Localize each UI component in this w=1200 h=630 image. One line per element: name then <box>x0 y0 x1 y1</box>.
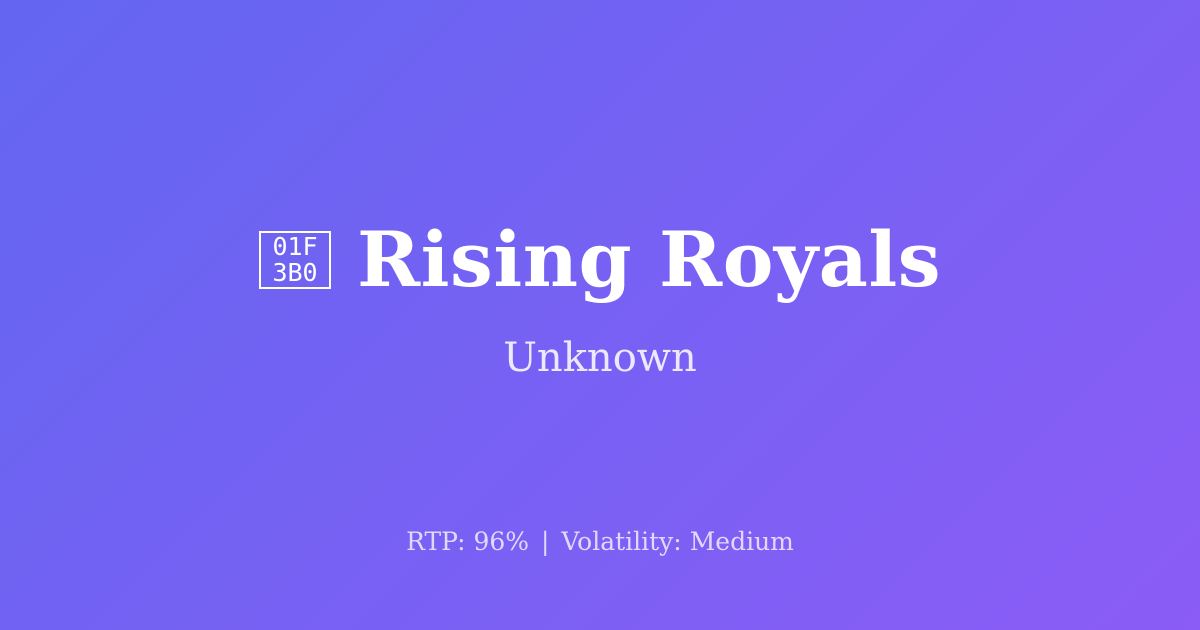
stats-separator: | <box>537 527 553 556</box>
volatility-label: Volatility: <box>561 527 681 556</box>
rtp-value: 96% <box>473 527 529 556</box>
tofu-codepoint-bottom: 3B0 <box>272 260 317 286</box>
og-card: 01F 3B0 Rising Royals Unknown RTP: 96% |… <box>0 0 1200 630</box>
slot-machine-emoji-icon: 01F 3B0 <box>259 231 331 289</box>
tofu-codepoint-top: 01F <box>272 234 317 260</box>
volatility-value: Medium <box>690 527 794 556</box>
rtp-label: RTP: <box>406 527 465 556</box>
provider-label: Unknown <box>503 336 697 380</box>
title-row: 01F 3B0 Rising Royals <box>259 220 941 300</box>
page-title: Rising Royals <box>357 220 941 300</box>
game-stats: RTP: 96% | Volatility: Medium <box>0 527 1200 556</box>
